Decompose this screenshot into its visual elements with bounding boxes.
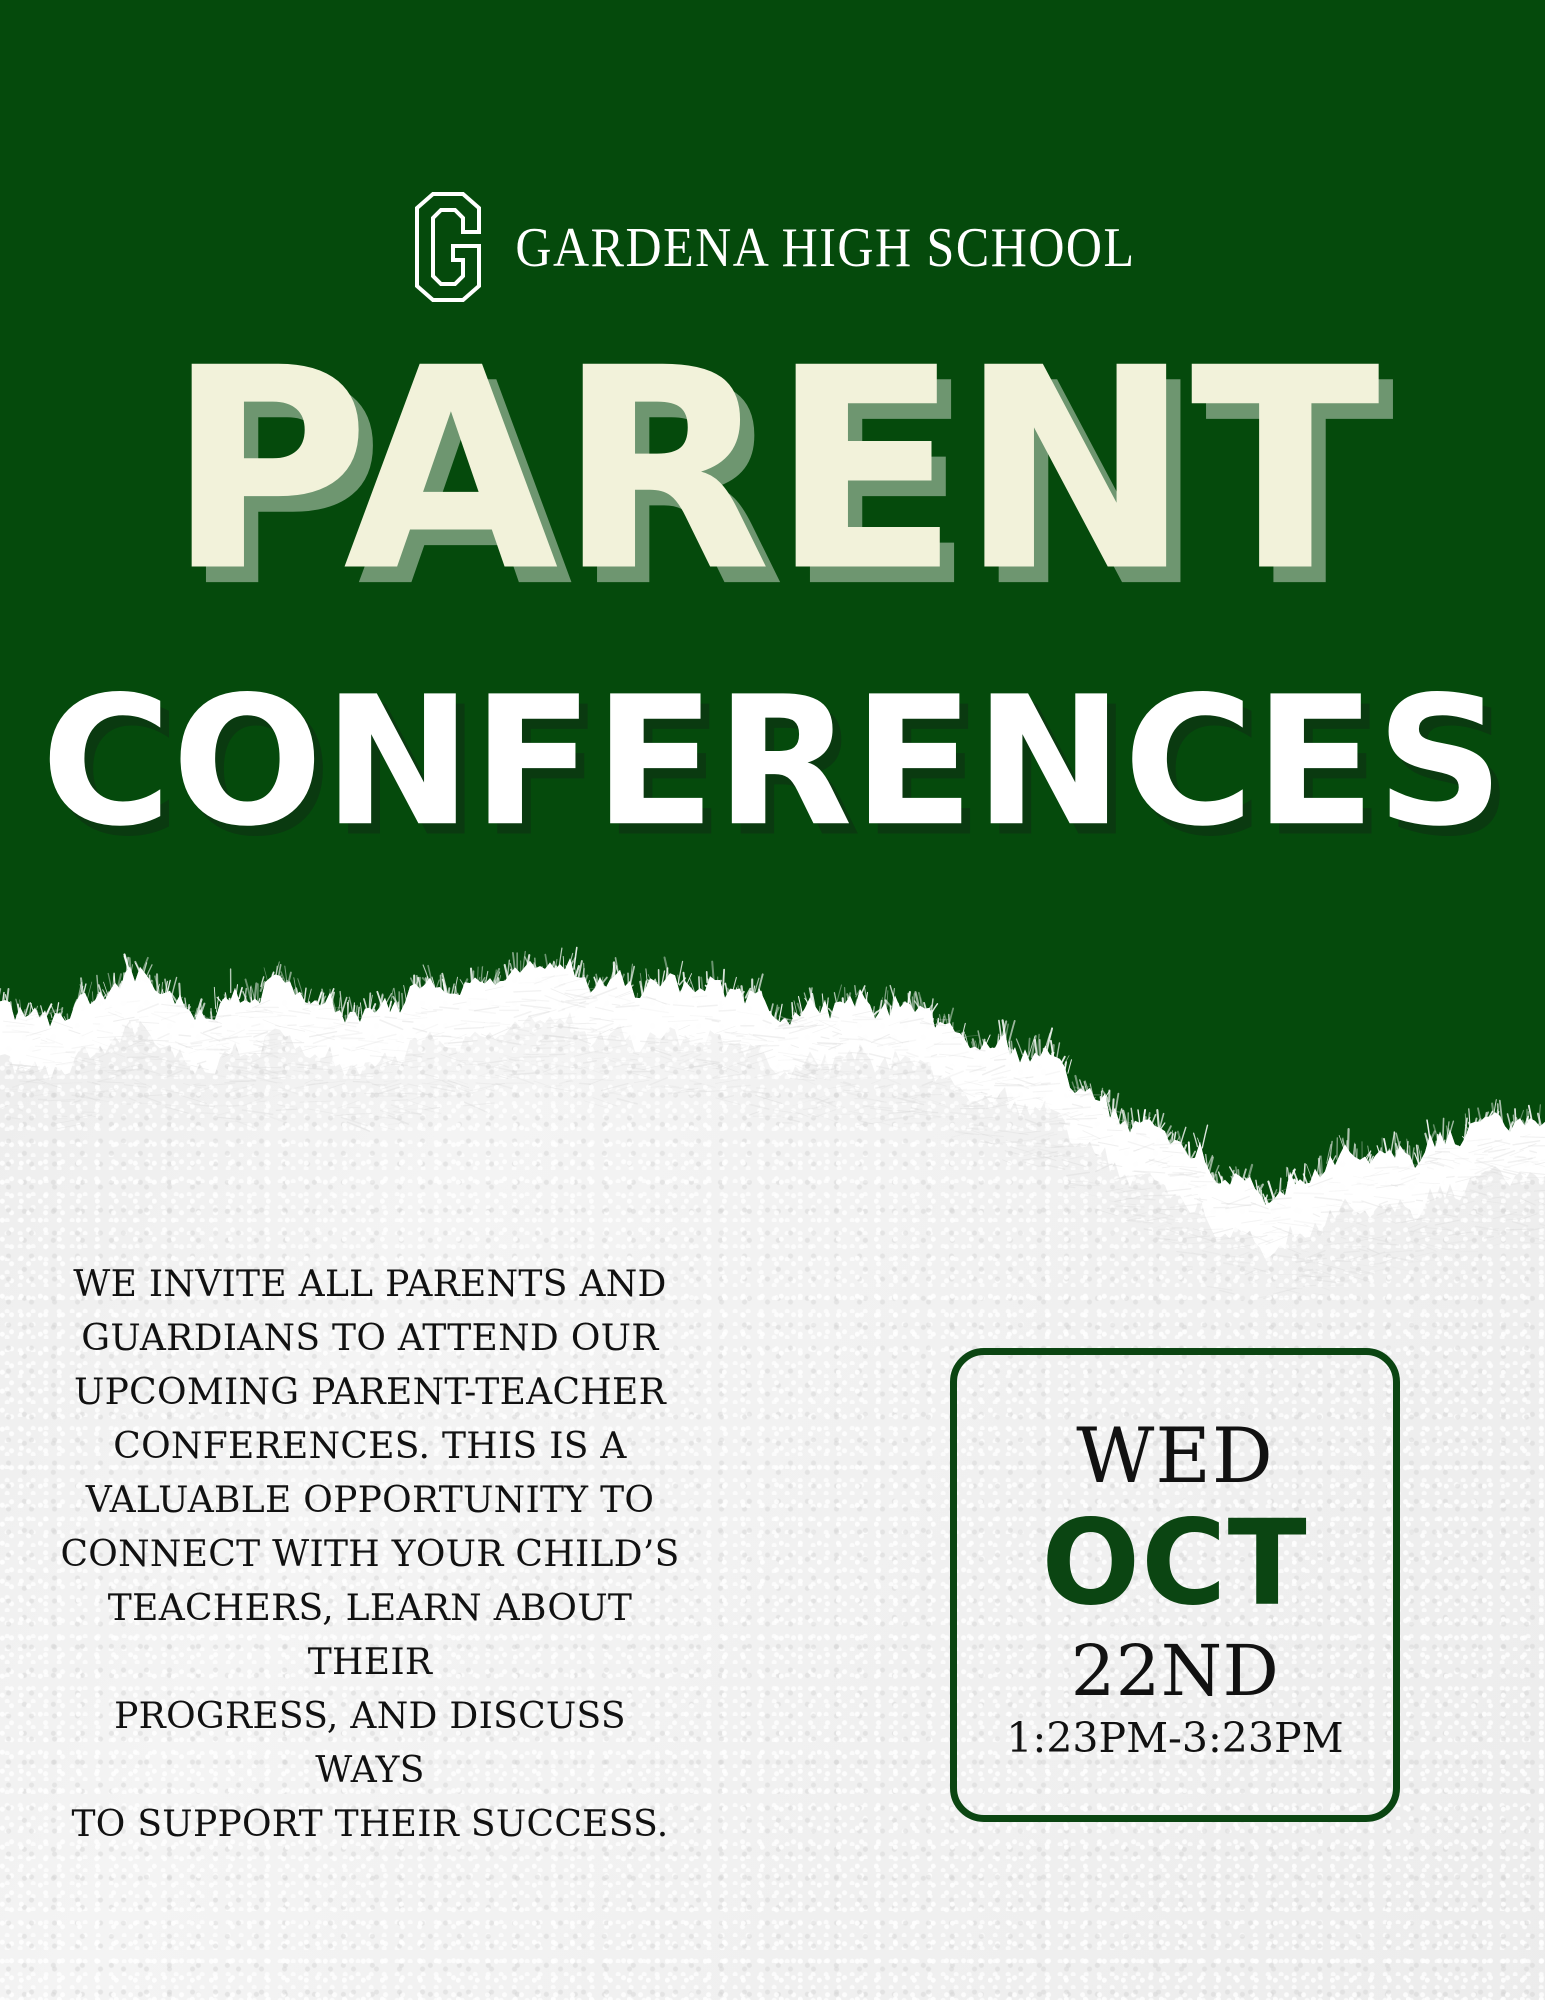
- body-paragraph-line: CONNECT WITH YOUR CHILD’S: [60, 1528, 680, 1582]
- event-time-range: 1:23PM-3:23PM: [1006, 1718, 1343, 1759]
- body-paragraph-line: UPCOMING PARENT-TEACHER: [60, 1366, 680, 1420]
- body-paragraph-line: VALUABLE OPPORTUNITY TO: [60, 1474, 680, 1528]
- body-paragraph-line: TO SUPPORT THEIR SUCCESS.: [60, 1798, 680, 1852]
- body-paragraph-line: PROGRESS, AND DISCUSS WAYS: [60, 1690, 680, 1798]
- event-date-card: WED OCT 22ND 1:23PM-3:23PM: [950, 1348, 1400, 1822]
- body-paragraph-line: TEACHERS, LEARN ABOUT THEIR: [60, 1582, 680, 1690]
- body-paragraph: WE INVITE ALL PARENTS ANDGUARDIANS TO AT…: [60, 1258, 680, 1852]
- event-day-of-week: WED: [1076, 1418, 1274, 1494]
- event-month: OCT: [1042, 1505, 1308, 1623]
- body-paragraph-line: GUARDIANS TO ATTEND OUR: [60, 1312, 680, 1366]
- body-paragraph-line: CONFERENCES. THIS IS A: [60, 1420, 680, 1474]
- poster-root: GARDENA HIGH SCHOOL PARENT CONFERENCES W…: [0, 0, 1545, 2000]
- event-day-number: 22ND: [1071, 1636, 1279, 1706]
- body-paragraph-line: WE INVITE ALL PARENTS AND: [60, 1258, 680, 1312]
